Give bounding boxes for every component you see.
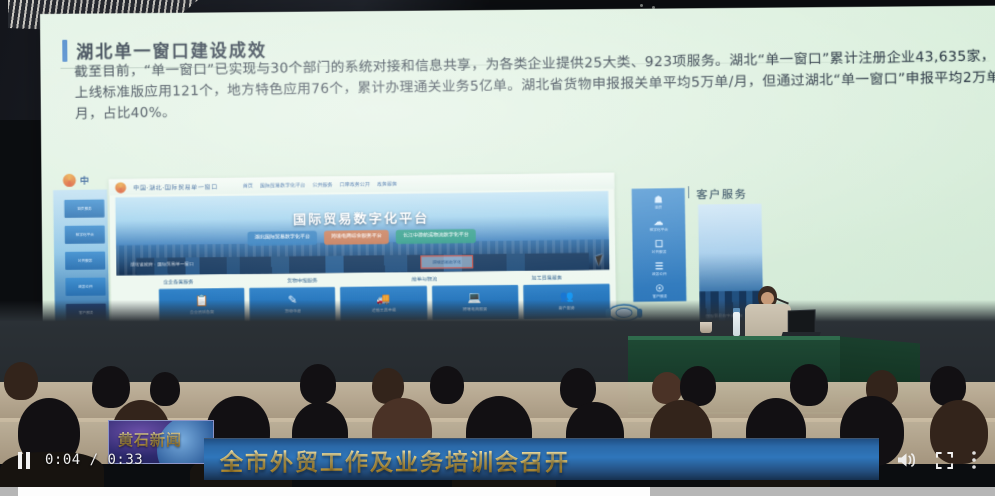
portal-left-chip-label: 数字化平台	[65, 225, 105, 243]
portal-highlight-label: 跨境贸易数字化	[421, 256, 472, 268]
portal-subnav-item[interactable]: 企业备案服务	[163, 278, 193, 285]
audience-head	[430, 366, 464, 404]
portal-subnav-item[interactable]: 舱单与物流	[412, 276, 437, 283]
portal-nav-item[interactable]: 首页	[243, 182, 253, 189]
home-icon: ☗	[637, 195, 680, 205]
single-window-logo-icon	[63, 174, 76, 187]
portal-right-panel: ☗ 首页 ☁ 数字化平台 ☐ 公共服务 ☰ 政务公开 ☉ 客户服务	[632, 188, 687, 302]
portal-nav-item[interactable]: 国际贸易数字化平台	[260, 181, 305, 189]
portal-right-item-label: 数字化平台	[637, 228, 680, 234]
hero-skyline-graphic	[116, 239, 609, 275]
fullscreen-icon[interactable]	[936, 452, 953, 469]
service-section-tick	[688, 186, 689, 198]
portal-right-item[interactable]: ☁ 数字化平台	[637, 217, 680, 233]
audience-head	[300, 364, 336, 404]
portal-left-chip[interactable]: 政务公开	[65, 278, 105, 296]
portal-left-chip-label: 政务公开	[65, 278, 105, 296]
portal-hero-banner: 国际贸易数字化平台 湖北国际贸易数字化平台 跨境电商综合服务平台 长江中游航运物…	[115, 191, 609, 275]
portal-hero-pill[interactable]: 跨境电商综合服务平台	[324, 230, 389, 244]
water-bottle	[733, 312, 740, 336]
portal-subnav-item[interactable]: 货物申报服务	[287, 277, 317, 284]
cloud-icon: ☁	[637, 217, 680, 227]
portal-right-item-label: 公共服务	[638, 250, 681, 256]
portal-hero-title: 国际贸易数字化平台	[293, 207, 430, 228]
page-scrollbar-track[interactable]	[0, 487, 995, 496]
portal-right-item[interactable]: ☐ 公共服务	[638, 240, 681, 256]
portal-hero-pills: 湖北国际贸易数字化平台 跨境电商综合服务平台 长江中游航运物流数字化平台	[247, 229, 476, 245]
audience-head	[92, 366, 130, 408]
portal-nav-item[interactable]: 公共服务	[312, 181, 332, 188]
tea-cup	[700, 322, 712, 333]
title-accent-bar	[62, 39, 67, 61]
portal-hero-caption: 湖北省政府 · 国际贸易单一窗口	[130, 261, 193, 268]
portal-hero-pill[interactable]: 湖北国际贸易数字化平台	[247, 231, 317, 245]
more-options-icon[interactable]	[971, 450, 977, 470]
portal-left-chip[interactable]: 数字化平台	[65, 225, 105, 243]
chart-icon: ☰	[638, 262, 681, 272]
portal-left-chip-label: 公共服务	[65, 252, 105, 270]
portal-right-item[interactable]: ☗ 首页	[637, 195, 680, 211]
time-display: 0:04 / 0:33	[45, 452, 143, 468]
portal-right-item-label: 客户服务	[638, 294, 681, 300]
portal-right-item[interactable]: ☰ 政务公开	[638, 262, 681, 278]
page-scrollbar-thumb[interactable]	[18, 487, 650, 496]
portal-right-item-label: 政务公开	[638, 272, 681, 278]
audience-head	[4, 362, 38, 400]
portal-brand: 中国·湖北·国际贸易单一窗口	[133, 181, 218, 191]
headset-icon: ☉	[638, 284, 681, 294]
portal-left-chip[interactable]: 首页服务	[64, 199, 104, 218]
portal-nav-item[interactable]: 政务服务	[377, 180, 397, 187]
audience-head	[150, 372, 180, 406]
portal-hero-pill[interactable]: 长江中游航运物流数字化平台	[396, 229, 476, 244]
pause-icon[interactable]	[18, 452, 31, 469]
portal-left-chip[interactable]: 公共服务	[65, 252, 105, 270]
portal-right-item-label: 首页	[637, 205, 680, 211]
video-player[interactable]: 湖北单一窗口建设成效 截至目前，“单一窗口”已实现与30个部门的系统对接和信息共…	[0, 0, 995, 489]
box-icon: ☐	[638, 240, 681, 250]
portal-nav-item[interactable]: 口岸政务公开	[340, 180, 370, 187]
player-control-bar[interactable]: 0:04 / 0:33	[0, 438, 995, 482]
portal-left-chip-label: 首页服务	[64, 199, 104, 218]
portal-highlight-box: 跨境贸易数字化	[420, 255, 473, 269]
service-section-label: 客户服务	[696, 186, 747, 203]
single-window-logo-icon	[115, 182, 126, 193]
laptop-screen	[788, 309, 816, 334]
portal-subnav-item[interactable]: 加工贸易服务	[532, 274, 563, 281]
player-left-controls: 0:04 / 0:33	[0, 452, 143, 469]
portal-right-item-list: ☗ 首页 ☁ 数字化平台 ☐ 公共服务 ☰ 政务公开 ☉ 客户服务	[632, 188, 687, 307]
portal-right-item[interactable]: ☉ 客户服务	[638, 284, 681, 300]
portal-logo-text: 中	[80, 174, 89, 187]
player-right-controls	[896, 438, 985, 482]
ceiling-spot-light	[640, 4, 643, 7]
portal-nav-links: 首页 国际贸易数字化平台 公共服务 口岸政务公开 政务服务	[243, 180, 398, 189]
portal-left-logo: 中	[63, 174, 89, 187]
audience-head	[790, 364, 828, 406]
volume-icon[interactable]	[896, 451, 918, 469]
